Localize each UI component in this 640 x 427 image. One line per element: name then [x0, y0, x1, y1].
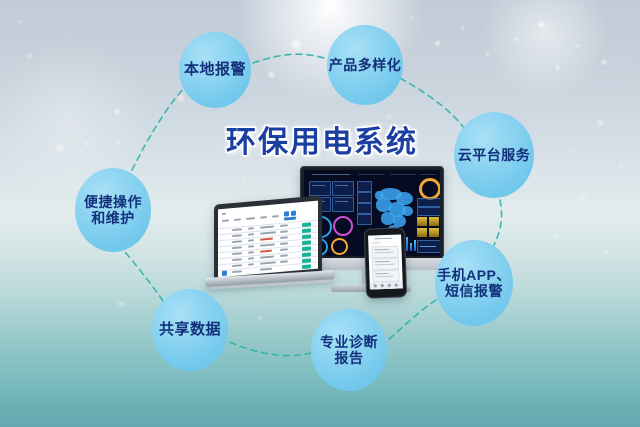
connector-local-alarm-to-product-variety	[253, 54, 327, 63]
feature-bubble-label-line: 短信报警	[437, 283, 511, 299]
feature-bubble-mobile-app-sms[interactable]: 手机APP、短信报警	[435, 240, 513, 326]
feature-bubble-diagnostic-report[interactable]: 专业诊断报告	[311, 309, 387, 391]
feature-bubble-label-line: 专业诊断	[320, 334, 378, 350]
feature-bubble-label-line: 便捷操作	[84, 194, 142, 210]
feature-bubble-label: 共享数据	[159, 321, 221, 338]
feature-bubble-easy-operation[interactable]: 便捷操作和维护	[75, 168, 151, 252]
feature-bubble-local-alarm[interactable]: 本地报警	[179, 32, 251, 108]
feature-bubble-label-line: 产品多样化	[329, 57, 402, 73]
connector-cloud-platform-to-mobile-app	[494, 200, 502, 245]
feature-bubble-label: 云平台服务	[458, 147, 531, 163]
connector-mobile-app-to-diagnostic-report	[387, 300, 436, 341]
connector-easy-operation-to-local-alarm	[132, 86, 186, 170]
feature-bubble-label-line: 和维护	[84, 210, 142, 226]
page-title: 环保用电系统	[226, 117, 418, 161]
laptop-screen	[218, 201, 318, 278]
feature-bubble-cloud-platform[interactable]: 云平台服务	[454, 112, 534, 198]
feature-bubble-label-line: 报告	[320, 350, 378, 366]
feature-bubble-label-line: 共享数据	[159, 321, 221, 338]
feature-bubble-label-line: 云平台服务	[458, 147, 531, 163]
feature-bubble-product-variety[interactable]: 产品多样化	[327, 25, 403, 105]
feature-bubble-label: 手机APP、短信报警	[437, 267, 511, 299]
laptop-lid	[214, 195, 322, 282]
poster-canvas: 本地报警产品多样化云平台服务手机APP、短信报警专业诊断报告共享数据便捷操作和维…	[0, 0, 640, 427]
connector-diagnostic-report-to-shared-data	[227, 341, 311, 356]
phone-screen	[368, 234, 403, 289]
feature-bubble-label: 专业诊断报告	[320, 334, 378, 366]
smartphone	[364, 227, 407, 298]
feature-bubble-label: 本地报警	[184, 61, 246, 78]
feature-bubble-shared-data[interactable]: 共享数据	[152, 289, 228, 371]
phone-bottom-nav	[370, 281, 403, 289]
feature-bubble-label-line: 本地报警	[184, 61, 246, 78]
feature-bubble-label: 便捷操作和维护	[84, 194, 142, 226]
feature-bubble-label-line: 手机APP、	[437, 267, 511, 283]
feature-bubble-label: 产品多样化	[329, 57, 402, 73]
connector-shared-data-to-easy-operation	[125, 252, 163, 301]
